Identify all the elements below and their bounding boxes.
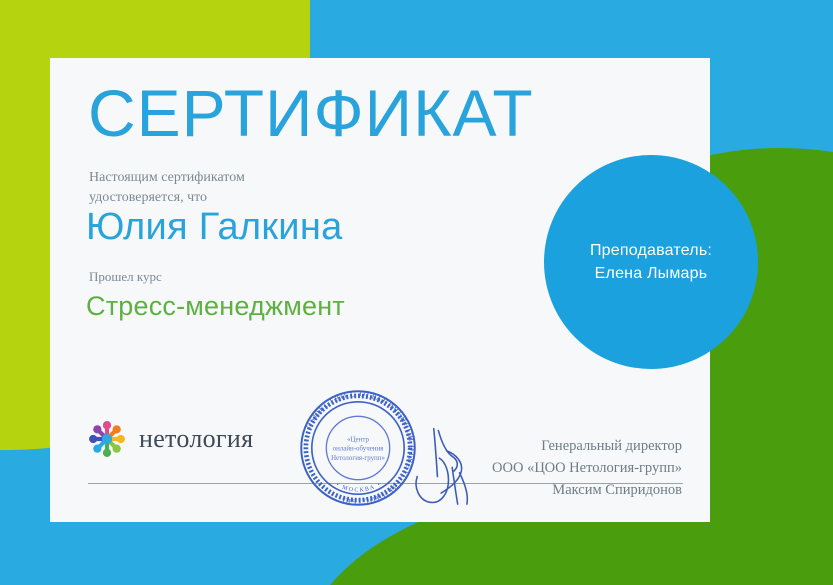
teacher-circle-badge: Преподаватель: Елена Лымарь [544,155,758,369]
stamp-center-line-1: «Центр [347,436,369,443]
director-signature-block: Генеральный директор ООО «ЦОО Нетология-… [430,436,682,501]
stamp-center-line-3: Нетология-групп» [331,455,385,462]
teacher-label: Преподаватель: [590,239,712,262]
company-seal-stamp: ОБЩЕСТВО С ОГРАНИЧЕННОЙ ОТВЕТСТВЕННОСТЬЮ… [292,382,424,514]
subtitle-line-1: Настоящим сертификатом [89,168,245,188]
director-person: Максим Спиридонов [430,480,682,502]
netologia-logo: нетология [84,416,253,462]
certificate-canvas: СЕРТИФИКАТ Настоящим сертификатом удосто… [0,0,833,585]
director-role: Генеральный директор [430,436,682,458]
student-name: Юлия Галкина [86,208,343,248]
stamp-center-line-2: онлайн-обучения [333,446,385,453]
certificate-title: СЕРТИФИКАТ [88,80,534,146]
netologia-flower-logo [84,416,130,462]
teacher-text: Преподаватель: Елена Лымарь [576,239,726,285]
course-name: Стресс-менеджмент [86,292,345,322]
course-label: Прошел курс [89,269,162,285]
netologia-wordmark: нетология [139,424,253,454]
teacher-name: Елена Лымарь [590,262,712,285]
director-company: ООО «ЦОО Нетология-групп» [430,458,682,480]
certificate-subtitle: Настоящим сертификатом удостоверяется, ч… [89,168,245,209]
